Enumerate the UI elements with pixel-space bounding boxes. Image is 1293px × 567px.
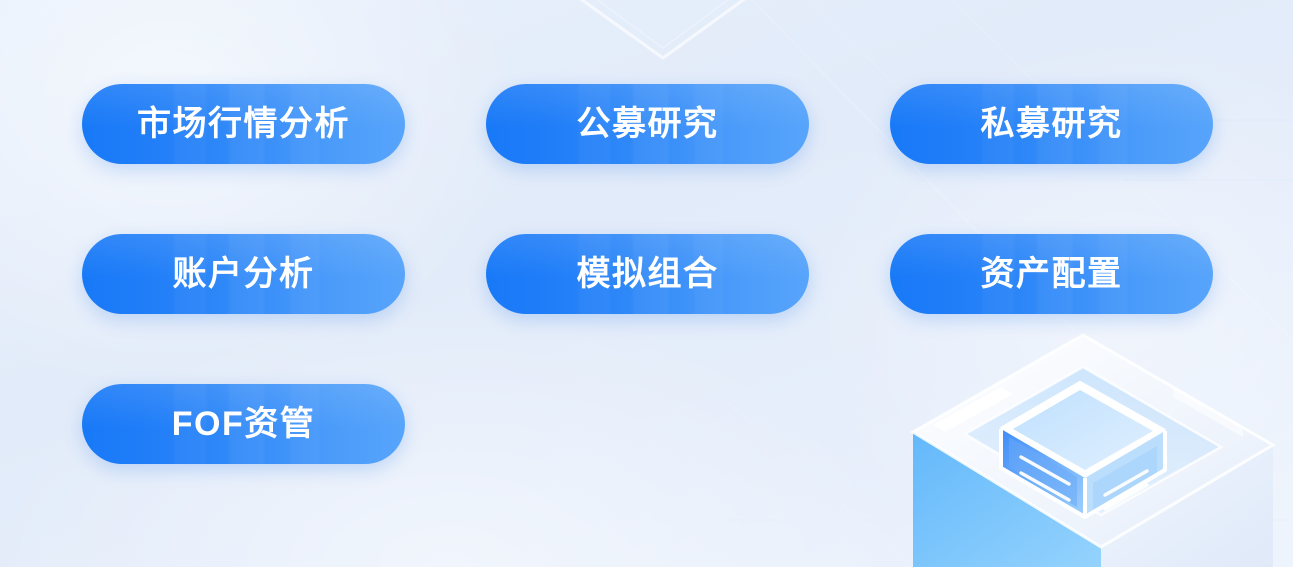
nav-button-label: FOF资管 <box>172 407 315 441</box>
nav-button-market-analysis[interactable]: 市场行情分析 <box>82 84 405 164</box>
nav-button-public-fund[interactable]: 公募研究 <box>486 84 809 164</box>
nav-button-label: 市场行情分析 <box>137 107 350 141</box>
nav-button-label: 账户分析 <box>173 257 315 291</box>
nav-button-label: 资产配置 <box>981 257 1123 291</box>
nav-button-label: 模拟组合 <box>577 257 719 291</box>
nav-button-account-analysis[interactable]: 账户分析 <box>82 234 405 314</box>
nav-button-private-fund[interactable]: 私募研究 <box>890 84 1213 164</box>
nav-button-asset-allocation[interactable]: 资产配置 <box>890 234 1213 314</box>
chevron-down-icon <box>555 0 770 70</box>
nav-button-fof-management[interactable]: FOF资管 <box>82 384 405 464</box>
nav-button-label: 公募研究 <box>577 107 719 141</box>
nav-button-simulated-portfolio[interactable]: 模拟组合 <box>486 234 809 314</box>
nav-button-label: 私募研究 <box>981 107 1123 141</box>
navigation-button-grid: 市场行情分析 公募研究 私募研究 账户分析 模拟组合 资产配置 FOF资管 <box>82 84 1213 464</box>
